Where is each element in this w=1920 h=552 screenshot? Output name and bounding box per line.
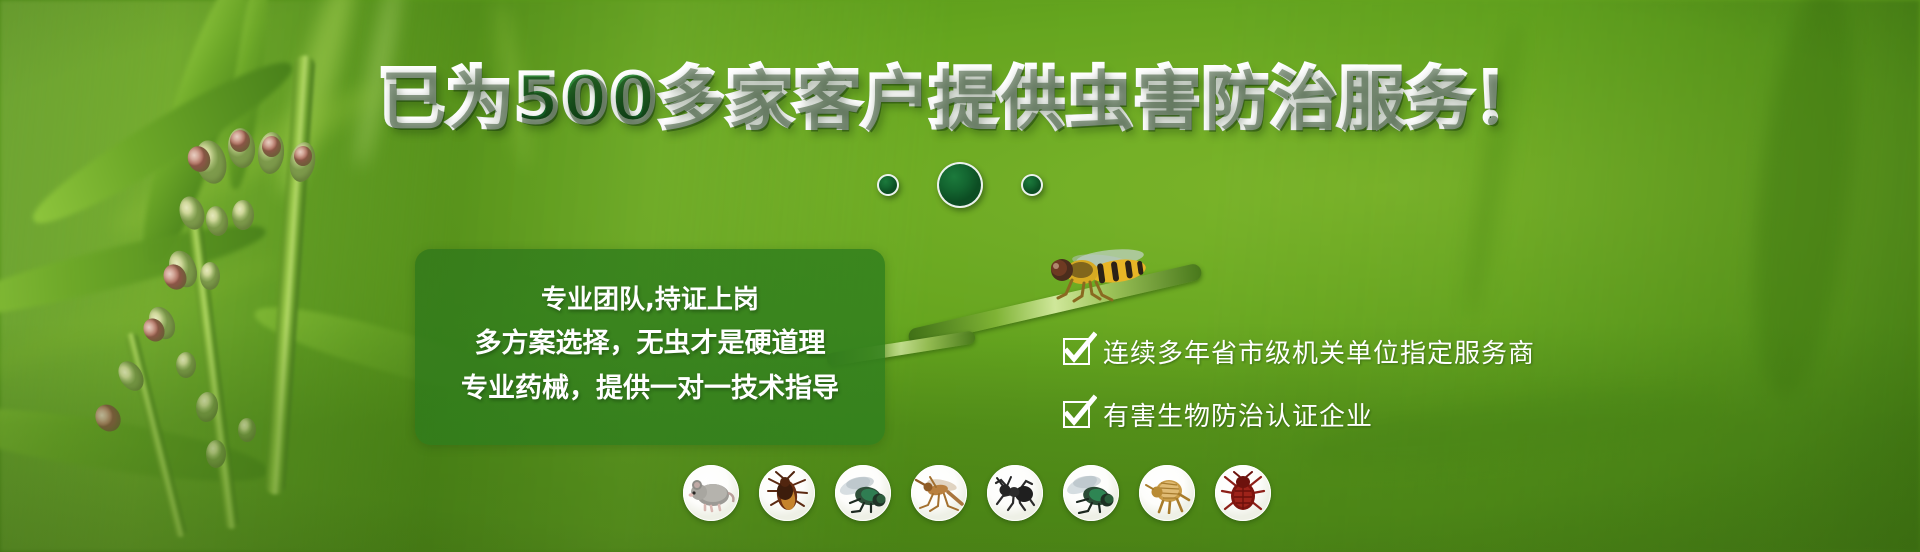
checklist-item: 有害生物防治认证企业 [1063,396,1535,433]
flea-icon[interactable] [1139,465,1195,521]
blowfly-icon[interactable] [1063,465,1119,521]
selling-points-list: 专业团队,持证上岗 多方案选择，无虫才是硬道理 专业药械，提供一对一技术指导 [415,249,885,445]
decorative-dot-large [937,162,983,208]
ant-icon[interactable] [987,465,1043,521]
cockroach-icon[interactable] [759,465,815,521]
decorative-dots [0,162,1920,208]
selling-point-1: 专业团队,持证上岗 [541,287,759,314]
page-title: 已为500多家客户提供虫害防治服务！ [0,66,1920,132]
checkbox-checked-icon [1063,338,1090,365]
bedbug-icon[interactable] [1215,465,1271,521]
checklist-item-label: 连续多年省市级机关单位指定服务商 [1103,333,1535,370]
credentials-checklist: 连续多年省市级机关单位指定服务商 有害生物防治认证企业 [1063,333,1535,433]
selling-points-panel: 专业团队,持证上岗 多方案选择，无虫才是硬道理 专业药械，提供一对一技术指导 [415,249,885,445]
checklist-item-label: 有害生物防治认证企业 [1103,396,1373,433]
pest-types-row [683,465,1271,521]
selling-point-2: 多方案选择，无虫才是硬道理 [475,330,826,358]
checklist-item: 连续多年省市级机关单位指定服务商 [1063,333,1535,370]
pest-control-hero-banner: 已为500多家客户提供虫害防治服务！ 专业团队,持证上岗 多方案选择，无虫才是硬… [0,0,1920,552]
page-title-text: 已为500多家客户提供虫害防治服务！ [378,60,1542,137]
mouse-icon[interactable] [683,465,739,521]
fly-icon[interactable] [835,465,891,521]
checkbox-checked-icon [1063,401,1090,428]
decorative-dot-small-left [877,174,899,196]
mosquito-icon[interactable] [911,465,967,521]
decorative-dot-small-right [1021,174,1043,196]
selling-point-3: 专业药械，提供一对一技术指导 [461,375,839,403]
